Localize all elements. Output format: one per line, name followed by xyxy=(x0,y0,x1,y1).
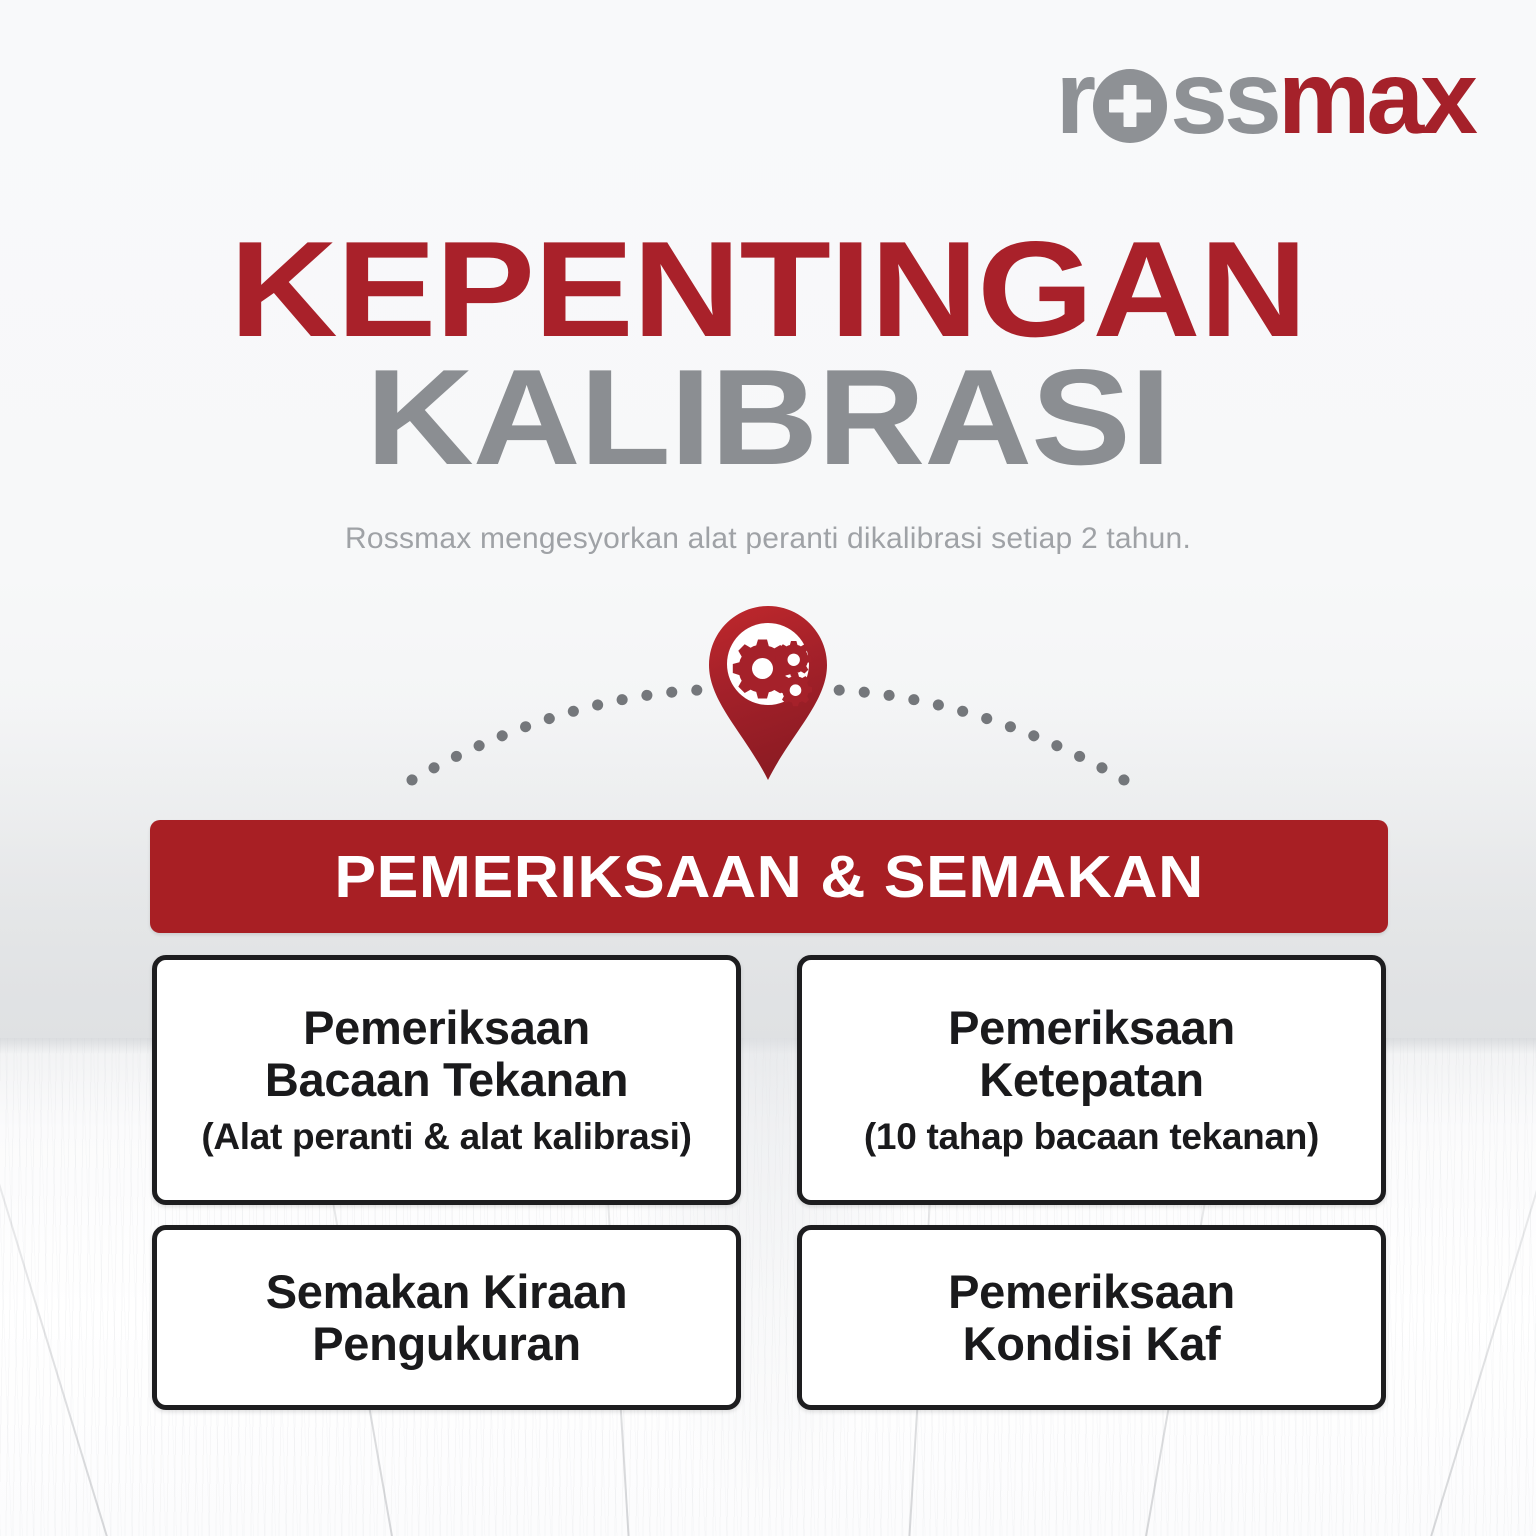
checklist-card-1[interactable]: PemeriksaanBacaan Tekanan (Alat peranti … xyxy=(152,955,741,1205)
checklist-card-grid: PemeriksaanBacaan Tekanan (Alat peranti … xyxy=(152,955,1386,1410)
content-layer: r ss max KEPENTINGAN KALIBRASI Rossmax m… xyxy=(0,0,1536,1536)
section-banner: PEMERIKSAAN & SEMAKAN xyxy=(150,820,1388,933)
logo-ross-part: r ss xyxy=(1056,46,1278,150)
dotted-arc-left xyxy=(412,690,700,780)
card-subtitle: (10 tahap bacaan tekanan) xyxy=(864,1117,1319,1158)
card-title: PemeriksaanKondisi Kaf xyxy=(948,1266,1235,1369)
logo-letter-r: r xyxy=(1056,46,1092,150)
headline-line-2: KALIBRASI xyxy=(0,354,1536,482)
card-title: Semakan KiraanPengukuran xyxy=(266,1266,628,1369)
checklist-card-2[interactable]: PemeriksaanKetepatan (10 tahap bacaan te… xyxy=(797,955,1386,1205)
card-subtitle: (Alat peranti & alat kalibrasi) xyxy=(201,1117,691,1158)
rossmax-logo: r ss max xyxy=(1056,46,1474,150)
gear-small-bottom-icon xyxy=(779,673,812,706)
card-title: PemeriksaanKetepatan xyxy=(948,1002,1235,1105)
location-pin-gears-icon xyxy=(705,604,831,782)
checklist-card-4[interactable]: PemeriksaanKondisi Kaf xyxy=(797,1225,1386,1410)
subtitle-text: Rossmax mengesyorkan alat peranti dikali… xyxy=(0,522,1536,556)
circle-plus-icon xyxy=(1093,69,1167,143)
card-title: PemeriksaanBacaan Tekanan xyxy=(265,1002,628,1105)
logo-letters-ss: ss xyxy=(1170,46,1278,150)
plus-horizontal-bar xyxy=(1109,100,1151,113)
logo-max-part: max xyxy=(1278,46,1474,150)
headline-line-1: KEPENTINGAN xyxy=(0,226,1536,354)
checklist-card-3[interactable]: Semakan KiraanPengukuran xyxy=(152,1225,741,1410)
section-banner-label: PEMERIKSAAN & SEMAKAN xyxy=(334,843,1203,911)
page-title: KEPENTINGAN KALIBRASI xyxy=(0,226,1536,482)
dotted-arc-right xyxy=(836,690,1124,780)
pin-illustration xyxy=(0,598,1536,798)
gear-small-top-icon xyxy=(776,641,812,677)
